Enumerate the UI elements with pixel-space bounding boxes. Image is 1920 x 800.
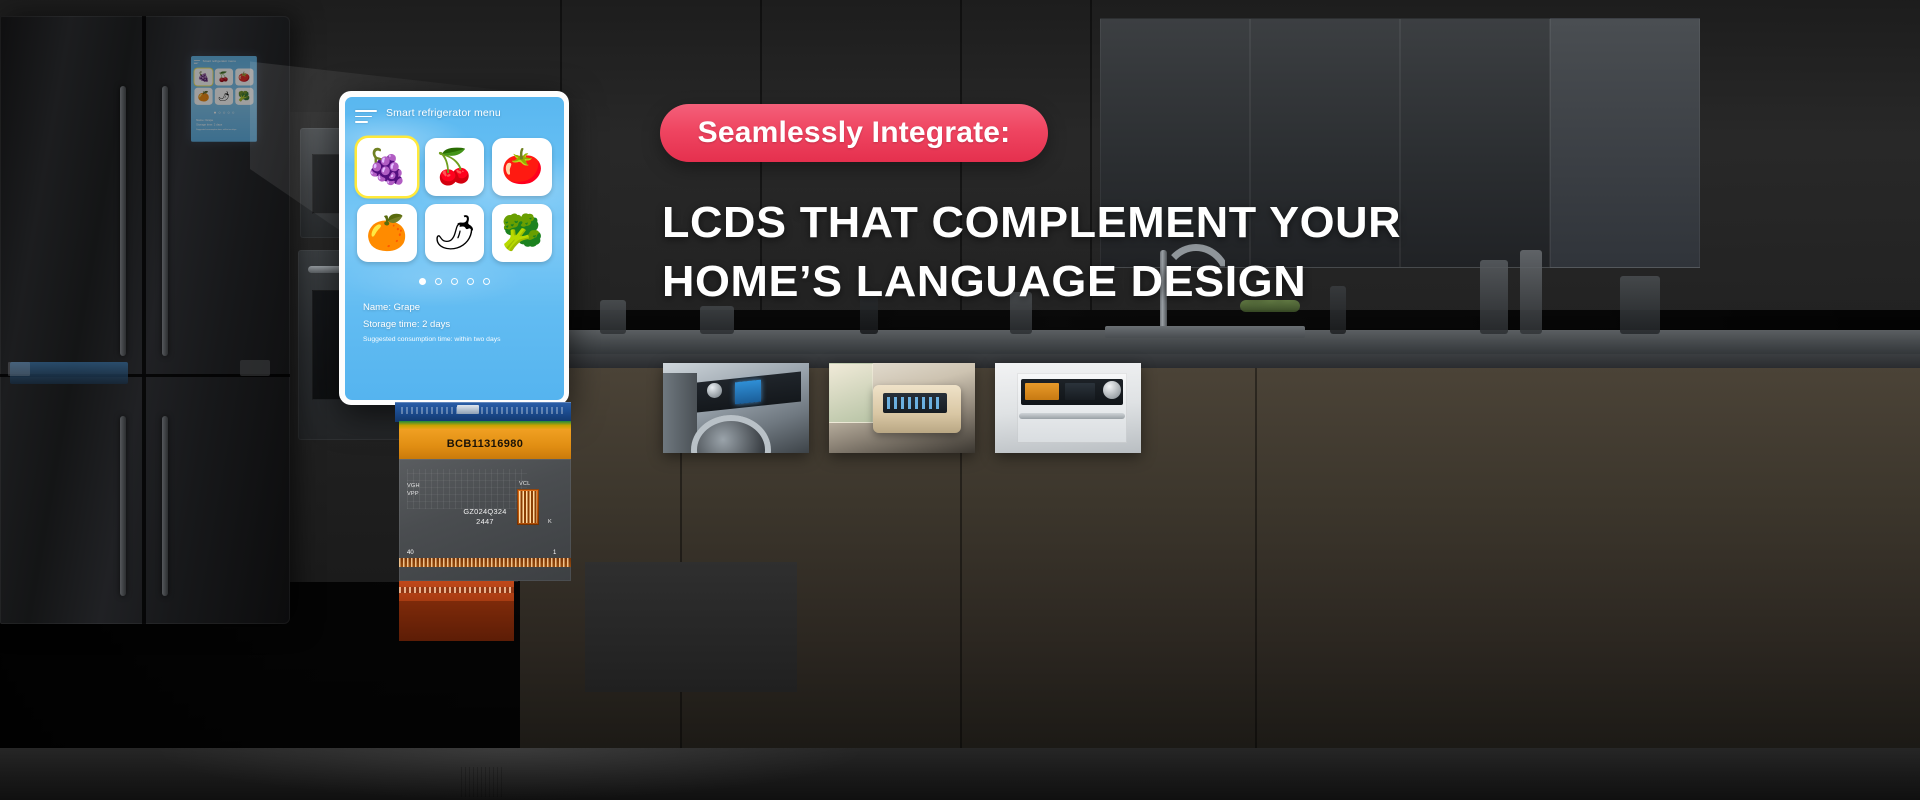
fridge-handle — [162, 86, 168, 356]
orange-icon: 🍊 — [197, 91, 209, 102]
cabinet-drawers — [585, 562, 797, 692]
pcb-part-number-block: GZ024Q324 2447 — [399, 507, 571, 527]
hamburger-menu-icon[interactable] — [355, 107, 377, 127]
counter-object — [600, 300, 626, 334]
kitchen-scene: Smart refrigerator menu 🍇 🍒 🍅 🍊 🌶 🥦 — [0, 0, 1920, 800]
floor-reflection — [150, 748, 870, 800]
toaster-background-window — [829, 363, 873, 423]
pagination-dot-2[interactable] — [435, 278, 442, 285]
hamburger-menu-icon — [194, 59, 200, 65]
mini-app-title: Smart refrigerator menu — [203, 59, 236, 65]
appliance-thumbnails — [663, 363, 1141, 453]
broccoli-icon: 🥦 — [501, 216, 543, 250]
cherry-icon: 🍒 — [433, 150, 475, 184]
lcd-module: Smart refrigerator menu 🍇 🍒 🍅 🍊 — [339, 91, 571, 551]
mini-food-grid: 🍇 🍒 🍅 🍊 🌶 🥦 — [191, 65, 257, 108]
food-cell-grape[interactable]: 🍇 — [357, 138, 417, 196]
panel-glass-strip — [395, 402, 571, 422]
mini-info: Name: Grape Storage time: 2 days Suggest… — [191, 114, 257, 132]
mini-food-cell: 🍅 — [235, 68, 253, 85]
thumbnail-washing-machine[interactable] — [663, 363, 809, 453]
item-storage-line: Storage time: 2 days — [363, 316, 564, 333]
cherry-icon: 🍒 — [218, 71, 230, 82]
orange-icon: 🍊 — [366, 216, 408, 250]
fridge-handle — [162, 416, 168, 596]
pagination-dot-4[interactable] — [467, 278, 474, 285]
lcd-bezel: Smart refrigerator menu 🍇 🍒 🍅 🍊 — [339, 91, 569, 405]
grape-icon: 🍇 — [197, 71, 209, 82]
fridge-handle — [120, 416, 126, 596]
food-cell-broccoli[interactable]: 🥦 — [492, 204, 552, 262]
item-details: Name: Grape Storage time: 2 days Suggest… — [345, 285, 564, 347]
pagination-dot — [218, 112, 220, 114]
pagination-dot — [223, 112, 225, 114]
fridge-handle — [120, 86, 126, 356]
broccoli-icon: 🥦 — [238, 91, 250, 102]
fridge-display-mirror: Smart refrigerator menu 🍇 🍒 🍅 🍊 🌶 🥦 — [191, 56, 257, 142]
food-cell-orange[interactable]: 🍊 — [357, 204, 417, 262]
pagination-dot — [227, 112, 229, 114]
mini-food-cell: 🍊 — [194, 88, 212, 105]
item-suggestion-line: Suggested consumption time: within two d… — [363, 333, 564, 347]
pcb-traces — [407, 469, 527, 509]
pcb-revision: 2447 — [399, 517, 571, 527]
pagination-dot — [232, 112, 234, 114]
pcb-part-number: GZ024Q324 — [399, 507, 571, 517]
pagination-dot-3[interactable] — [451, 278, 458, 285]
washer-knob — [707, 383, 722, 398]
thumbnail-built-in-oven[interactable] — [995, 363, 1141, 453]
lcd-top-bar: Smart refrigerator menu — [345, 97, 564, 127]
headline: LCDS THAT COMPLEMENT YOUR HOME’S LANGUAG… — [662, 193, 1762, 311]
chili-icon: 🌶 — [433, 216, 476, 250]
pcb-label-vgh: VGH — [407, 483, 420, 489]
eyebrow-label: Seamlessly Integrate: — [698, 116, 1011, 150]
food-grid: 🍇 🍒 🍅 🍊 🌶 🥦 — [345, 127, 564, 262]
pin-number-first: 40 — [407, 550, 414, 556]
pin-number-last: 1 — [553, 550, 556, 556]
oven-door-handle — [1019, 413, 1125, 419]
food-cell-tomato[interactable]: 🍅 — [492, 138, 552, 196]
lcd-screen[interactable]: Smart refrigerator menu 🍇 🍒 🍅 🍊 — [345, 97, 564, 400]
sink — [1105, 326, 1305, 338]
backlight-connector — [517, 489, 539, 525]
oven-secondary-display — [1065, 383, 1095, 400]
grape-icon: 🍇 — [366, 150, 408, 184]
cog-driver-chip — [457, 405, 479, 414]
washer-lcd-display — [735, 380, 761, 405]
food-cell-chili[interactable]: 🌶 — [425, 204, 485, 262]
door-gap — [142, 16, 146, 374]
headline-line-2: HOME’S LANGUAGE DESIGN — [662, 252, 1784, 311]
pcb-label-vcl: VCL — [519, 481, 530, 487]
pcb-pin-row — [399, 558, 571, 567]
fridge-control-strip — [8, 362, 30, 376]
pagination-dot — [214, 112, 216, 114]
mini-suggestion-line: Suggested consumption time: within two d… — [196, 127, 257, 132]
chili-icon: 🌶 — [218, 91, 230, 102]
tomato-icon: 🍅 — [238, 71, 250, 82]
oven-lcd-display — [1025, 383, 1059, 400]
fridge-embedded-display[interactable]: Smart refrigerator menu 🍇 🍒 🍅 🍊 🌶 🥦 — [191, 56, 257, 142]
item-name-line: Name: Grape — [363, 299, 564, 316]
driver-pcb: VGH VPP VCL A K GZ024Q324 2447 40 1 — [399, 459, 571, 581]
pagination-dot-5[interactable] — [483, 278, 490, 285]
mini-food-cell: 🍇 — [194, 68, 212, 85]
fpc-code-label: BCB11316980 — [447, 438, 524, 450]
mini-food-cell: 🍒 — [215, 68, 233, 85]
eyebrow-pill: Seamlessly Integrate: — [660, 104, 1048, 162]
pagination-dot-1[interactable] — [419, 278, 426, 285]
door-gap — [142, 377, 146, 624]
pagination — [345, 262, 564, 285]
oven-knob — [1103, 381, 1121, 399]
fpc-vias — [461, 767, 505, 797]
thumbnail-toaster[interactable] — [829, 363, 975, 453]
pcb-label-vpp: VPP — [407, 491, 419, 497]
app-title: Smart refrigerator menu — [386, 107, 501, 120]
mini-food-cell: 🥦 — [235, 88, 253, 105]
fpc-edge — [399, 421, 571, 429]
headline-line-1: LCDS THAT COMPLEMENT YOUR — [662, 193, 1784, 252]
cabinet-seam — [1255, 368, 1257, 754]
mini-food-cell: 🌶 — [215, 88, 233, 105]
fridge-badge — [240, 360, 270, 376]
fpc-ribbon: BCB11316980 — [399, 429, 571, 459]
fpc-tail — [399, 581, 514, 641]
washer-drum-door — [691, 415, 771, 453]
food-cell-cherry[interactable]: 🍒 — [425, 138, 485, 196]
toaster-lcd-display — [883, 393, 947, 413]
tomato-icon: 🍅 — [501, 150, 543, 184]
